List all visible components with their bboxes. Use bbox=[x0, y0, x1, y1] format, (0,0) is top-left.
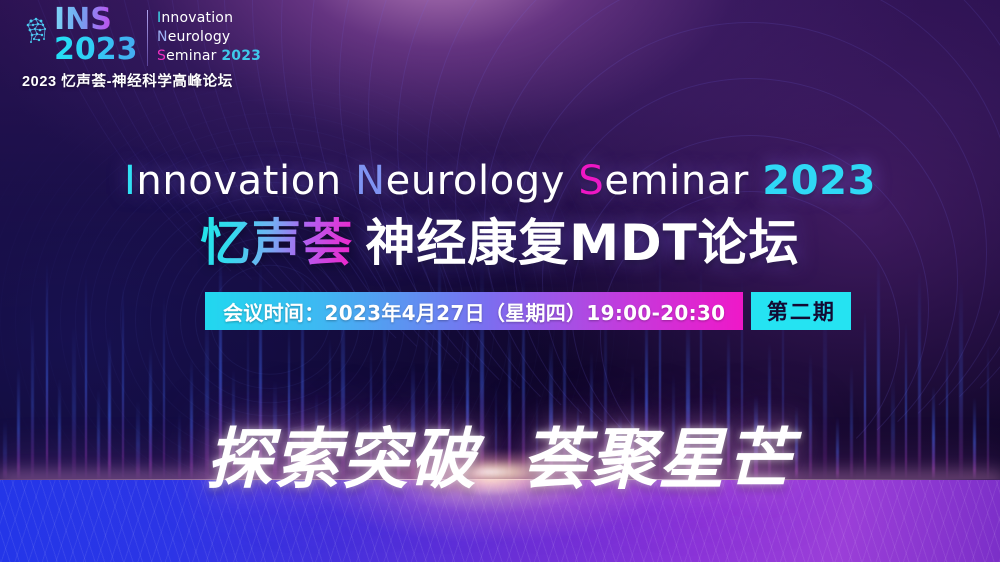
meeting-info-bar: 会议时间：2023年4月27日（星期四）19:00-20:30 第二期 bbox=[205, 292, 851, 330]
event-poster: INS 2023 Innovation Neurology Seminar 20… bbox=[0, 0, 1000, 562]
title-cn-brand: 忆声荟 bbox=[200, 214, 353, 272]
logo-line-innovation: Innovation bbox=[157, 9, 261, 28]
logo-line2-rest: eurology bbox=[168, 29, 231, 45]
logo-line-neurology: Neurology bbox=[157, 28, 261, 47]
logo-line3-accent: S bbox=[157, 48, 166, 64]
logo-ins-year: 2023 bbox=[54, 35, 138, 65]
logo-line-seminar: Seminar 2023 bbox=[157, 47, 261, 66]
logo-line3-rest: eminar bbox=[166, 48, 217, 64]
title-cn-rest: 神经康复MDT论坛 bbox=[365, 214, 799, 272]
logo-chinese-tagline: 2023 忆声荟-神经科学高峰论坛 bbox=[22, 70, 252, 91]
meeting-time-label: 会议时间：2023年4月27日（星期四）19:00-20:30 bbox=[205, 292, 743, 330]
logo-ins-block: INS 2023 bbox=[54, 6, 138, 65]
slogan-part-2: 荟聚星芒 bbox=[522, 421, 794, 498]
title-en-i: I bbox=[124, 158, 136, 204]
title-en-year: 2023 bbox=[762, 158, 876, 204]
title-en-n: N bbox=[355, 158, 386, 204]
logo-divider bbox=[147, 10, 149, 66]
slogan-part-1: 探索突破 bbox=[206, 421, 478, 498]
title-en-eurology: eurology bbox=[386, 158, 579, 204]
main-title-english: Innovation Neurology Seminar 2023 bbox=[0, 158, 1000, 204]
logo-line2-accent: N bbox=[157, 29, 168, 45]
logo-line3-year: 2023 bbox=[221, 48, 261, 64]
logo-row: INS 2023 Innovation Neurology Seminar 20… bbox=[22, 6, 252, 66]
slogan-text: 探索突破荟聚星芒 bbox=[0, 406, 1000, 502]
logo-line1-rest: nnovation bbox=[161, 10, 233, 26]
title-en-innovation: nnovation bbox=[136, 158, 355, 204]
logo-ins-abbrev: INS bbox=[54, 6, 138, 34]
logo-english-block: Innovation Neurology Seminar 2023 bbox=[157, 6, 261, 66]
title-en-eminar: eminar bbox=[604, 158, 762, 204]
title-en-s: S bbox=[578, 158, 604, 204]
event-logo: INS 2023 Innovation Neurology Seminar 20… bbox=[22, 6, 252, 91]
session-badge: 第二期 bbox=[751, 292, 851, 330]
brain-icon bbox=[22, 12, 52, 52]
main-title-chinese: 忆声荟神经康复MDT论坛 bbox=[0, 203, 1000, 275]
